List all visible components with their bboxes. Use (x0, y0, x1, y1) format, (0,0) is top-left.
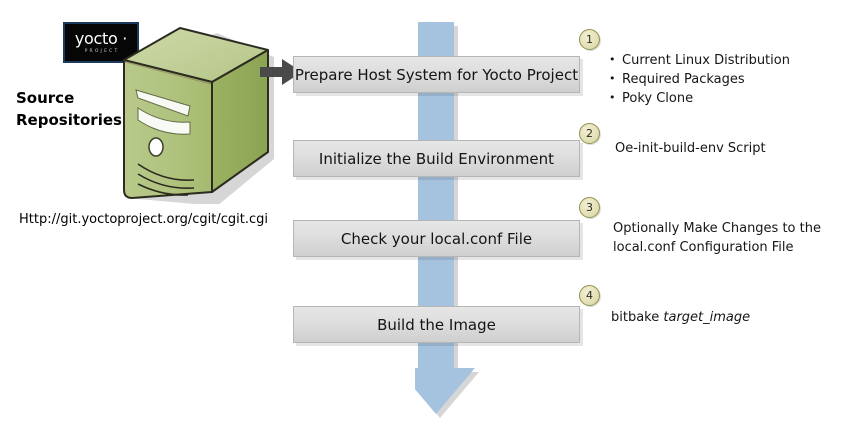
process-box-initialize-build-environment[interactable]: Initialize the Build Environment (293, 140, 580, 177)
step-1-annotation: Current Linux Distribution Required Pack… (609, 51, 790, 108)
process-box-check-local-conf[interactable]: Check your local.conf File (293, 220, 580, 257)
step-3-annotation: Optionally Make Changes to the local.con… (613, 219, 835, 257)
process-box-prepare-host-system[interactable]: Prepare Host System for Yocto Project (293, 56, 580, 93)
step-number-3: 3 (579, 197, 600, 218)
step-2-annotation: Oe-init-build-env Script (615, 139, 766, 158)
source-label-line-2: Repositories (16, 109, 126, 131)
step-3-text-line-1: Optionally Make Changes to the (613, 219, 835, 238)
step-4-command-argument: target_image (663, 310, 750, 325)
step-1-bullet-list: Current Linux Distribution Required Pack… (609, 51, 790, 108)
list-item: Required Packages (609, 70, 790, 89)
source-label-line-1: Source (16, 87, 126, 109)
step-3-text-line-2: local.conf Configuration File (613, 238, 835, 257)
step-2-text: Oe-init-build-env Script (615, 139, 766, 158)
list-item: Poky Clone (609, 89, 790, 108)
step-number-4: 4 (579, 285, 600, 306)
list-item: Current Linux Distribution (609, 51, 790, 70)
step-number-2: 2 (579, 123, 600, 144)
source-repositories-url: Http://git.yoctoproject.org/cgit/cgit.cg… (19, 212, 268, 227)
logo-subtitle: PROJECT (85, 50, 120, 55)
step-4-command: bitbake (611, 310, 659, 325)
step-number-1: 1 (579, 29, 600, 50)
step-4-annotation: bitbake target_image (611, 308, 750, 327)
process-box-build-the-image[interactable]: Build the Image (293, 306, 580, 343)
server-tower-icon (116, 24, 276, 204)
source-repositories-label: Source Repositories (16, 87, 126, 131)
